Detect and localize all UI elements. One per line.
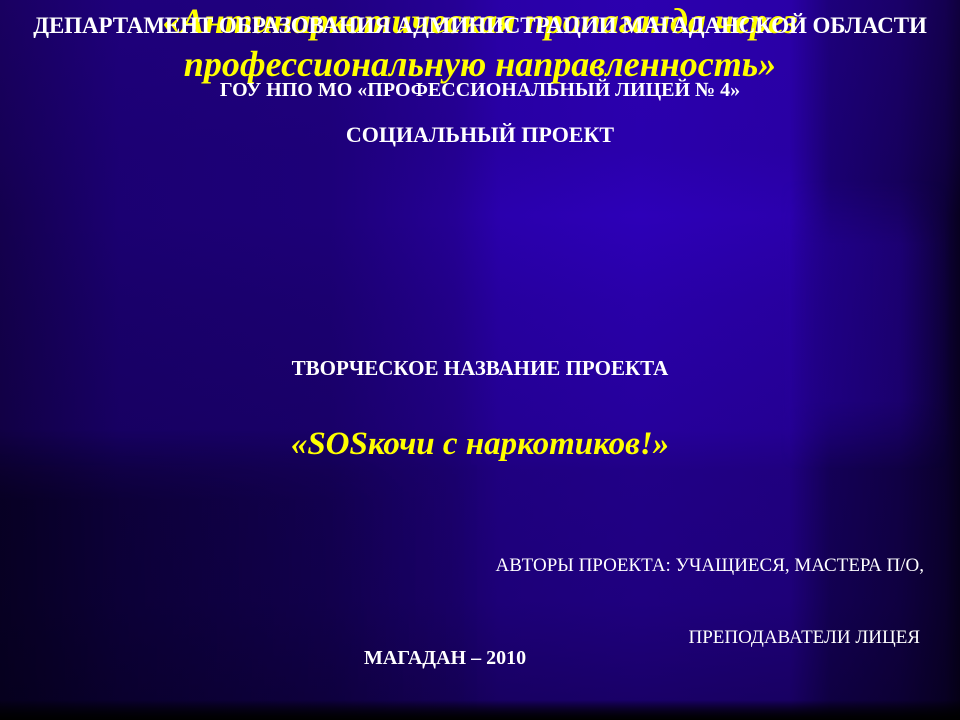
slide-content: ДЕПАРТАМЕНТ ОБРАЗОВАНИЯ АДМИНИСТРАЦИИ МА… — [0, 0, 960, 720]
institution-heading: ГОУ НПО МО «ПРОФЕССИОНАЛЬНЫЙ ЛИЦЕЙ № 4» — [0, 80, 960, 101]
creative-title: «SOSкочи с наркотиков!» — [0, 427, 960, 462]
title-slide: ДЕПАРТАМЕНТ ОБРАЗОВАНИЯ АДМИНИСТРАЦИИ МА… — [0, 0, 960, 720]
city-and-year: МАГАДАН – 2010 — [0, 648, 960, 669]
project-authors: АВТОРЫ ПРОЕКТА: УЧАЩИЕСЯ, МАСТЕРА П/О, — [0, 556, 960, 576]
creative-title-label: ТВОРЧЕСКОЕ НАЗВАНИЕ ПРОЕКТА — [0, 357, 960, 379]
document-kind-label: СОЦИАЛЬНЫЙ ПРОЕКТ — [0, 123, 960, 146]
department-heading: ДЕПАРТАМЕНТ ОБРАЗОВАНИЯ АДМИНИСТРАЦИИ МА… — [0, 14, 960, 38]
project-teachers: ПРЕПОДАВАТЕЛИ ЛИЦЕЯ — [0, 628, 960, 648]
